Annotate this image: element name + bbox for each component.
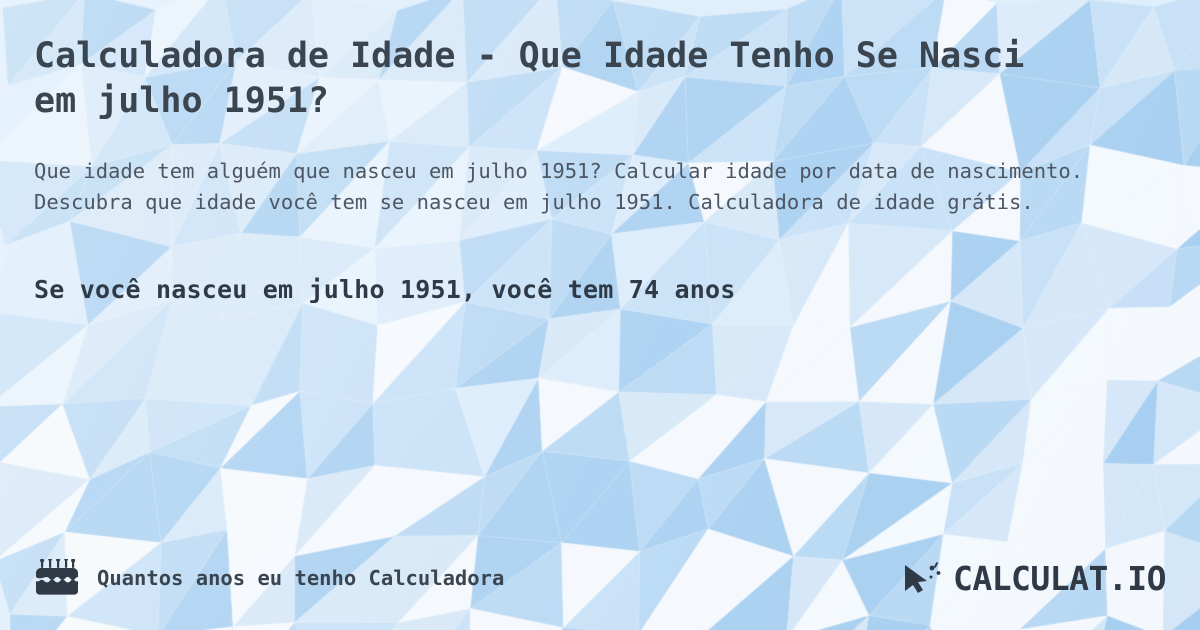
footer: Quantos anos eu tenho Calculadora CALCUL… <box>0 526 1200 630</box>
brand-name: CALCULAT.IO <box>953 559 1166 598</box>
footer-label: Quantos anos eu tenho Calculadora <box>97 566 504 590</box>
site-logo[interactable]: CALCULAT.IO <box>901 559 1166 598</box>
page-description: Que idade tem alguém que nasceu em julho… <box>34 156 1154 218</box>
footer-brand-left: Quantos anos eu tenho Calculadora <box>34 559 504 597</box>
age-answer: Se você nasceu em julho 1951, você tem 7… <box>34 275 1166 304</box>
hand-pointing-icon <box>901 559 943 597</box>
birthday-cake-icon <box>34 559 80 597</box>
page-title: Calculadora de Idade - Que Idade Tenho S… <box>34 34 1044 124</box>
